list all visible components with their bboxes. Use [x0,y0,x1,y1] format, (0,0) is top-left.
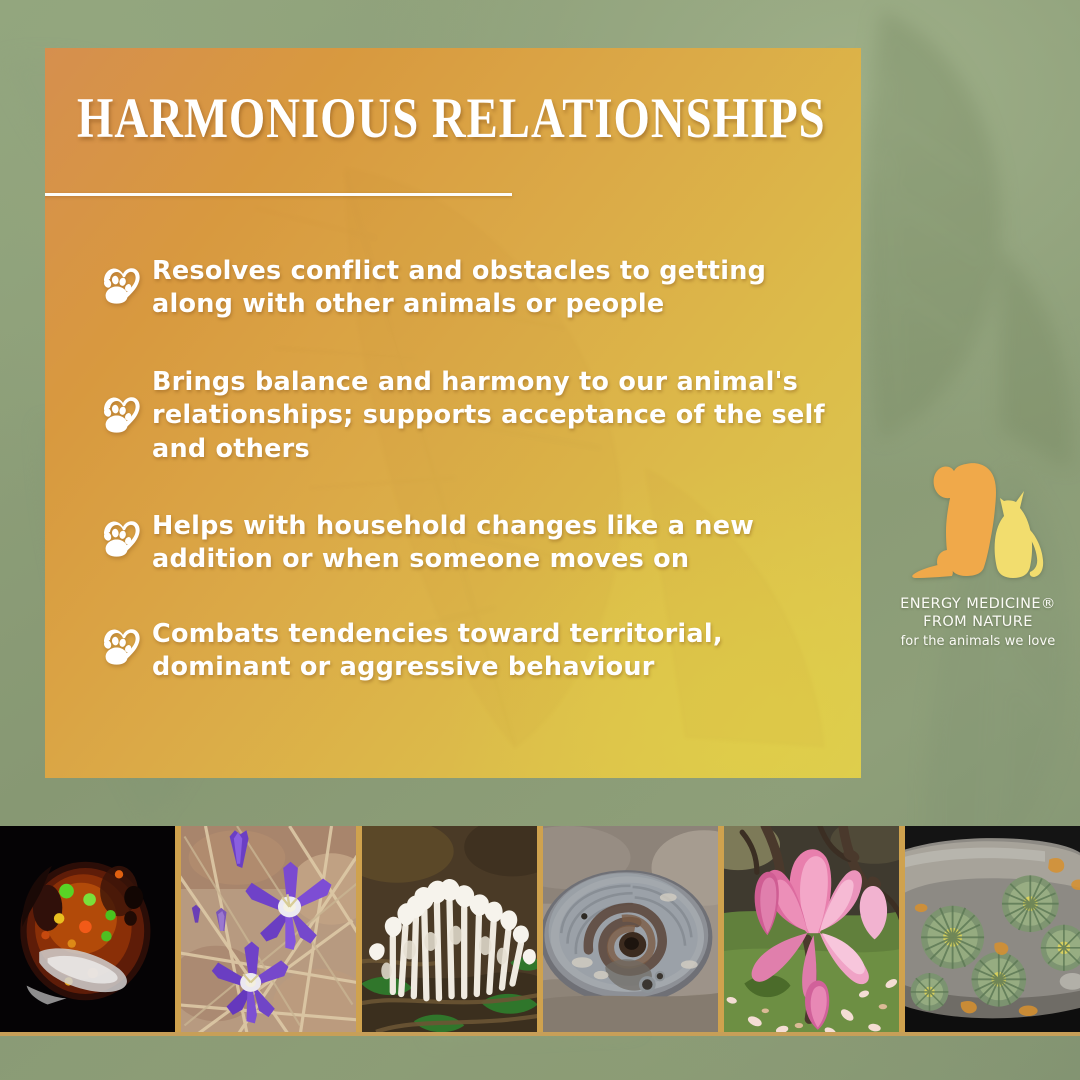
wavellite-mineral-rock-photo [905,826,1080,1036]
photo-strip [0,826,1080,1036]
list-item: Combats tendencies toward territorial, d… [88,616,828,684]
paw-heart-icon [88,253,152,307]
page-title: HARMONIOUS RELATIONSHIPS [77,86,826,151]
paw-heart-icon [88,508,152,560]
logo-line-1: ENERGY MEDICINE® [893,596,1063,612]
list-item-text: Resolves conflict and obstacles to getti… [152,253,828,321]
paw-heart-icon [88,364,152,436]
fire-agate-gemstone-photo [0,826,175,1036]
title-divider-rule [45,193,512,196]
list-item: Helps with household changes like a new … [88,508,828,576]
content-panel: HARMONIOUS RELATIONSHIPS Resolves confli… [45,48,861,778]
benefits-list: Resolves conflict and obstacles to getti… [88,253,828,684]
list-item-text: Combats tendencies toward territorial, d… [152,616,828,684]
list-item: Brings balance and harmony to our animal… [88,364,828,465]
logo-line-2: FROM NATURE [893,614,1063,630]
moon-snail-shell-photo [543,826,718,1036]
white-indian-pipe-plants-photo [362,826,537,1036]
list-item-text: Helps with household changes like a new … [152,508,828,576]
list-item: Resolves conflict and obstacles to getti… [88,253,828,321]
logo-line-3: for the animals we love [893,634,1063,649]
brand-logo: ENERGY MEDICINE® FROM NATURE for the ani… [893,458,1063,649]
paw-heart-icon [88,616,152,668]
photo-strip-bottom-border [0,1032,1080,1036]
dog-and-cat-silhouette-icon [904,458,1052,588]
pink-magnolia-blossom-photo [724,826,899,1036]
purple-brodiaea-flowers-photo [181,826,356,1036]
list-item-text: Brings balance and harmony to our animal… [152,364,828,465]
